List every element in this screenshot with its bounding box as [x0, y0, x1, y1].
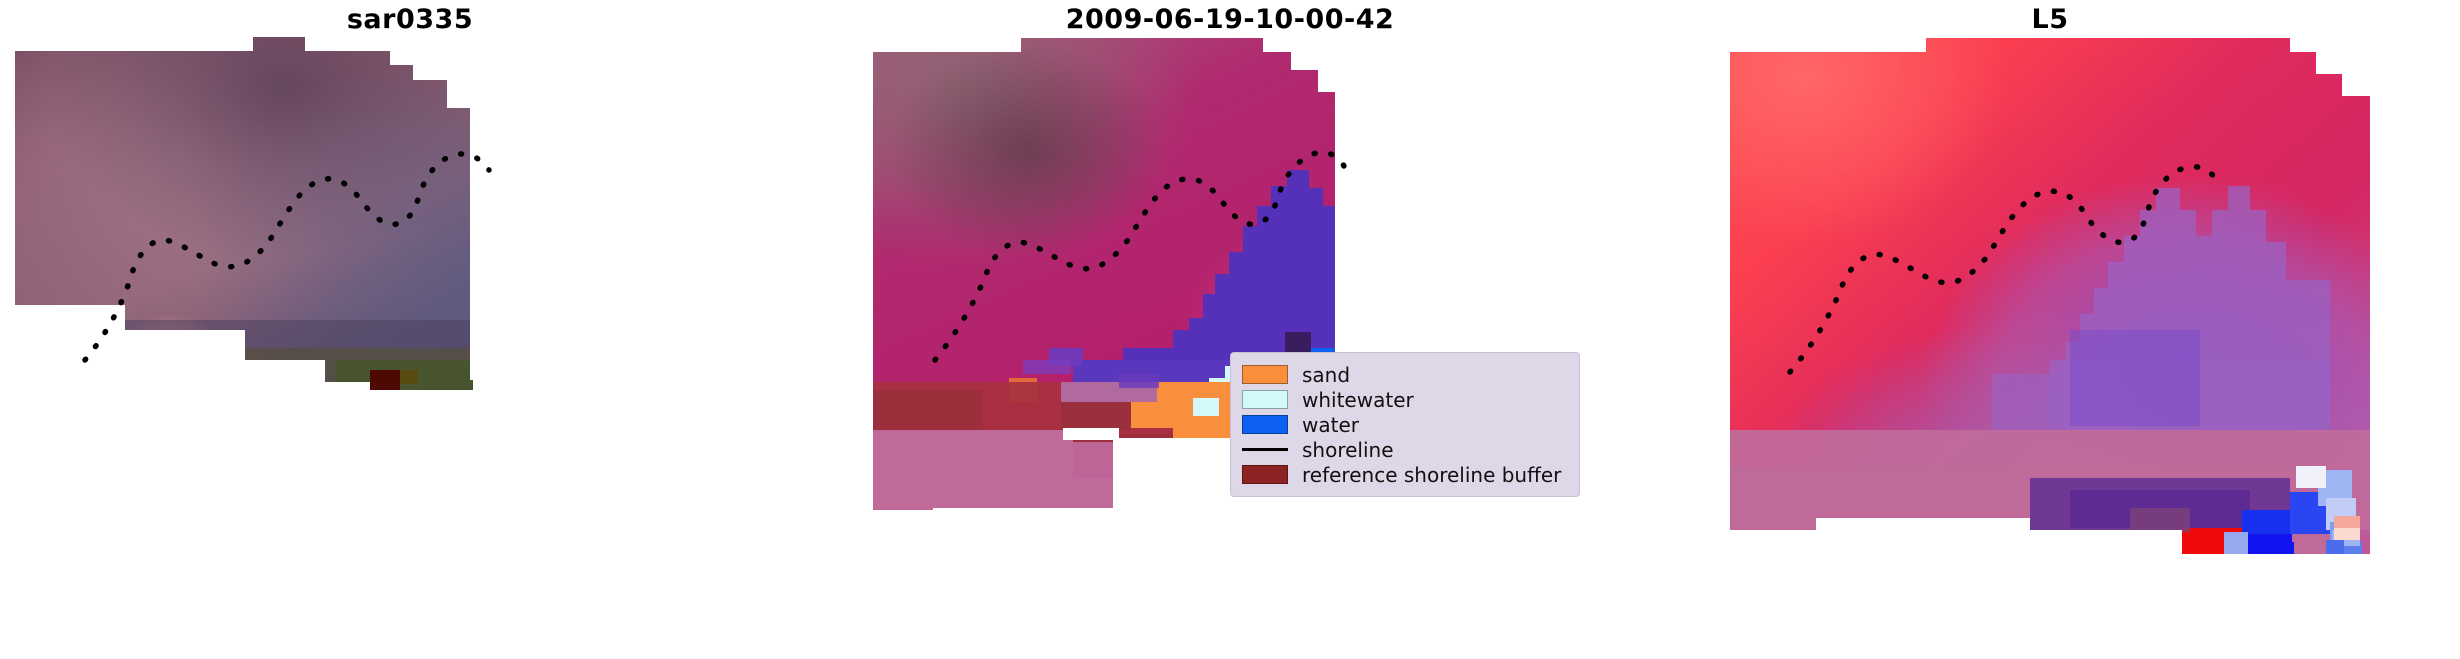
- legend-item-water: water: [1242, 412, 1567, 437]
- panel-2009-06-19-10-00-42: 2009-06-19-10-00-42: [820, 0, 1640, 659]
- legend-label-water: water: [1302, 415, 1359, 435]
- legend-item-whitewater: whitewater: [1242, 387, 1567, 412]
- legend-label-reference-shoreline-buffer: reference shoreline buffer: [1302, 465, 1561, 485]
- legend-swatch-sand: [1242, 365, 1288, 384]
- legend-item-sand: sand: [1242, 362, 1567, 387]
- legend-label-whitewater: whitewater: [1302, 390, 1414, 410]
- legend-box: sand whitewater water shoreline referenc…: [1230, 352, 1580, 497]
- legend-label-sand: sand: [1302, 365, 1350, 385]
- raster-sar0335: [15, 30, 805, 610]
- axes-l5: [1730, 30, 2460, 630]
- raster-l5: [1730, 30, 2460, 630]
- legend-item-shoreline: shoreline: [1242, 437, 1567, 462]
- legend-swatch-whitewater: [1242, 390, 1288, 409]
- figure-canvas: sar0335: [0, 0, 2460, 659]
- axes-sar0335: [15, 30, 805, 610]
- legend-swatch-water: [1242, 415, 1288, 434]
- panel-l5: L5: [1640, 0, 2460, 659]
- legend-item-reference-shoreline-buffer: reference shoreline buffer: [1242, 462, 1567, 487]
- axes-classified: [873, 30, 1643, 630]
- legend-swatch-reference-shoreline-buffer: [1242, 465, 1288, 484]
- legend-label-shoreline: shoreline: [1302, 440, 1394, 460]
- raster-classified: [873, 30, 1643, 630]
- panel-sar0335: sar0335: [0, 0, 820, 659]
- legend-swatch-shoreline: [1242, 440, 1288, 459]
